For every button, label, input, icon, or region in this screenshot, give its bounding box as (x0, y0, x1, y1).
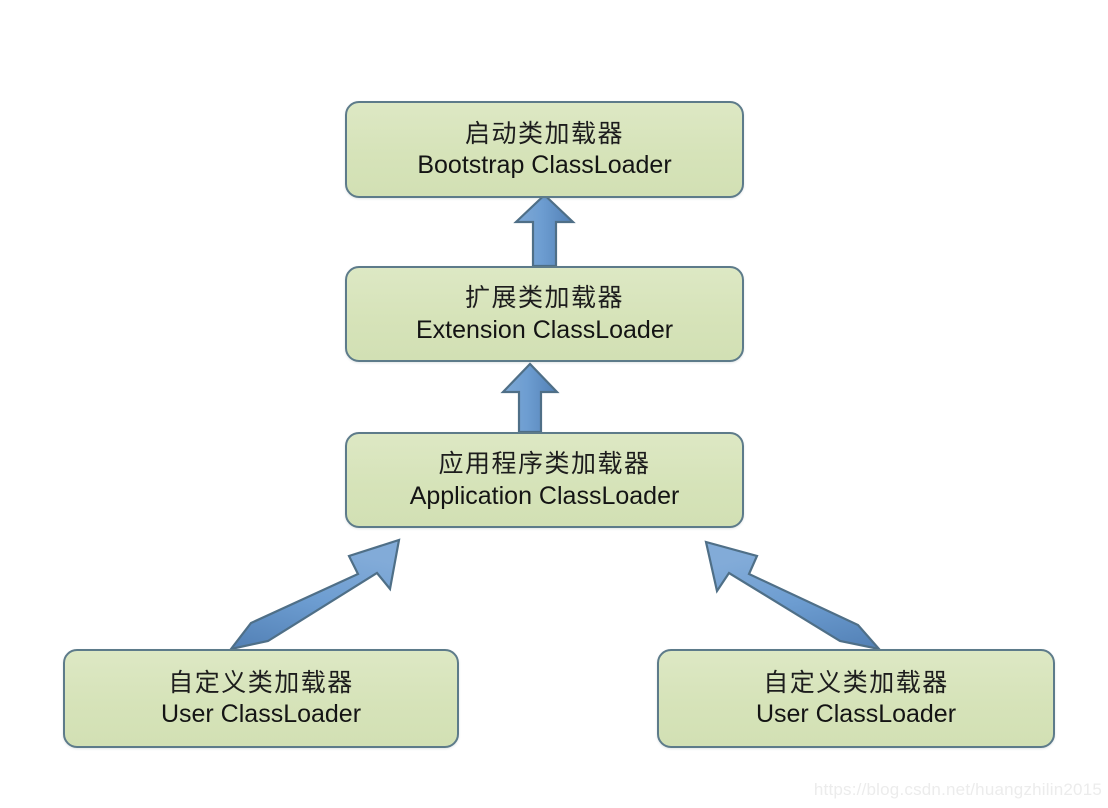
node-label-en: User ClassLoader (756, 699, 956, 729)
arrow-user-right-to-application (706, 542, 879, 649)
node-label-cn: 自定义类加载器 (168, 668, 354, 698)
node-label-cn: 扩展类加载器 (465, 283, 624, 313)
arrow-application-to-extension (503, 364, 557, 432)
diagram-canvas: 启动类加载器 Bootstrap ClassLoader 扩展类加载器 Exte… (0, 0, 1108, 808)
arrow-user-left-to-application (231, 540, 399, 649)
node-bootstrap-classloader[interactable]: 启动类加载器 Bootstrap ClassLoader (345, 101, 744, 198)
node-label-cn: 自定义类加载器 (763, 668, 949, 698)
node-user-classloader-right[interactable]: 自定义类加载器 User ClassLoader (657, 649, 1055, 748)
node-label-cn: 启动类加载器 (465, 119, 624, 149)
node-label-en: Extension ClassLoader (416, 315, 673, 345)
node-label-en: User ClassLoader (161, 699, 361, 729)
node-extension-classloader[interactable]: 扩展类加载器 Extension ClassLoader (345, 266, 744, 362)
node-label-en: Bootstrap ClassLoader (417, 150, 671, 180)
node-application-classloader[interactable]: 应用程序类加载器 Application ClassLoader (345, 432, 744, 528)
node-user-classloader-left[interactable]: 自定义类加载器 User ClassLoader (63, 649, 459, 748)
watermark-text: https://blog.csdn.net/huangzhilin2015 (814, 780, 1102, 800)
node-label-cn: 应用程序类加载器 (438, 449, 650, 479)
arrow-extension-to-bootstrap (516, 195, 573, 266)
node-label-en: Application ClassLoader (410, 481, 680, 511)
